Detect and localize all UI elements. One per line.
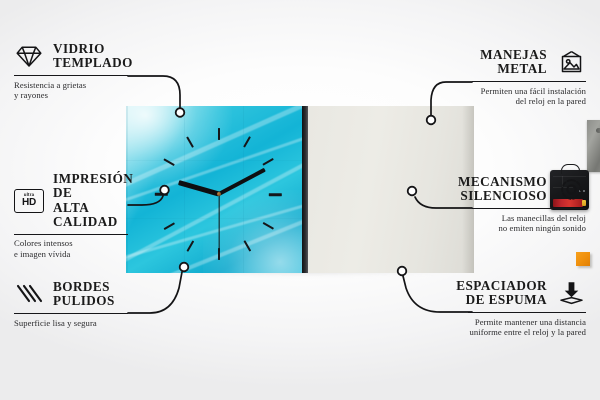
diagonal-lines-icon — [14, 281, 44, 307]
feature-title: ESPACIADOR DE ESPUMA — [456, 279, 547, 308]
feature-desc: Resistencia a grietas y rayones — [14, 80, 128, 101]
infographic-canvas: VIDRIO TEMPLADO Resistencia a grietas y … — [0, 0, 600, 400]
tick-8 — [163, 222, 175, 230]
feature-rule — [14, 234, 128, 235]
foam-spacer — [576, 252, 590, 266]
clock-back — [308, 106, 474, 273]
feature-desc: Permite mantener una distancia uniforme … — [452, 317, 586, 338]
feature-rule — [472, 81, 586, 82]
ultra-hd-icon-main-label: HD — [22, 198, 36, 208]
feature-desc: Colores intensos e imagen vívida — [14, 238, 128, 259]
feature-espaciador-espuma: ESPACIADOR DE ESPUMA Permite mantener un… — [468, 279, 586, 338]
ultra-hd-icon: ultra HD — [14, 188, 44, 214]
clock-face — [126, 106, 302, 273]
feature-desc: Superficie lisa y segura — [14, 318, 128, 329]
second-hand — [218, 194, 219, 252]
feature-title: IMPRESIÓN DE ALTA CALIDAD — [53, 172, 133, 230]
feature-impresion-alta-calidad: ultra HD IMPRESIÓN DE ALTA CALIDAD Color… — [14, 172, 128, 260]
diamond-icon — [14, 43, 44, 69]
product-image — [126, 106, 474, 274]
feature-rule — [14, 313, 128, 314]
tick-9 — [155, 193, 168, 196]
feature-rule — [472, 208, 586, 209]
tick-7 — [186, 240, 194, 252]
feature-rule — [14, 75, 128, 76]
feature-desc: Permiten una fácil instalación del reloj… — [460, 86, 586, 107]
feature-title: MECANISMO SILENCIOSO — [458, 175, 547, 204]
feature-vidrio-templado: VIDRIO TEMPLADO Resistencia a grietas y … — [14, 42, 128, 101]
arrow-down-layers-icon — [556, 280, 586, 306]
hanger-loop — [561, 164, 580, 174]
feature-desc: Las manecillas del reloj no emiten ningú… — [460, 213, 586, 234]
hanger-keyhole-slot — [596, 128, 600, 133]
feature-mecanismo-silencioso: MECANISMO SILENCIOSO Las manecillas del … — [472, 175, 586, 234]
tick-3 — [269, 193, 282, 196]
picture-frame-hanger-icon — [556, 49, 586, 75]
feature-title: VIDRIO TEMPLADO — [53, 42, 133, 71]
feature-bordes-pulidos: BORDES PULIDOS Superficie lisa y segura — [14, 280, 128, 328]
feature-manejas-metal: MANEJAS METAL Permiten una fácil instala… — [472, 48, 586, 107]
feature-rule — [468, 312, 586, 313]
tick-12 — [218, 128, 220, 140]
feature-title: MANEJAS METAL — [480, 48, 547, 77]
feature-title: BORDES PULIDOS — [53, 280, 115, 309]
metal-hanger-plate — [587, 120, 600, 172]
gear-icon — [556, 176, 586, 202]
